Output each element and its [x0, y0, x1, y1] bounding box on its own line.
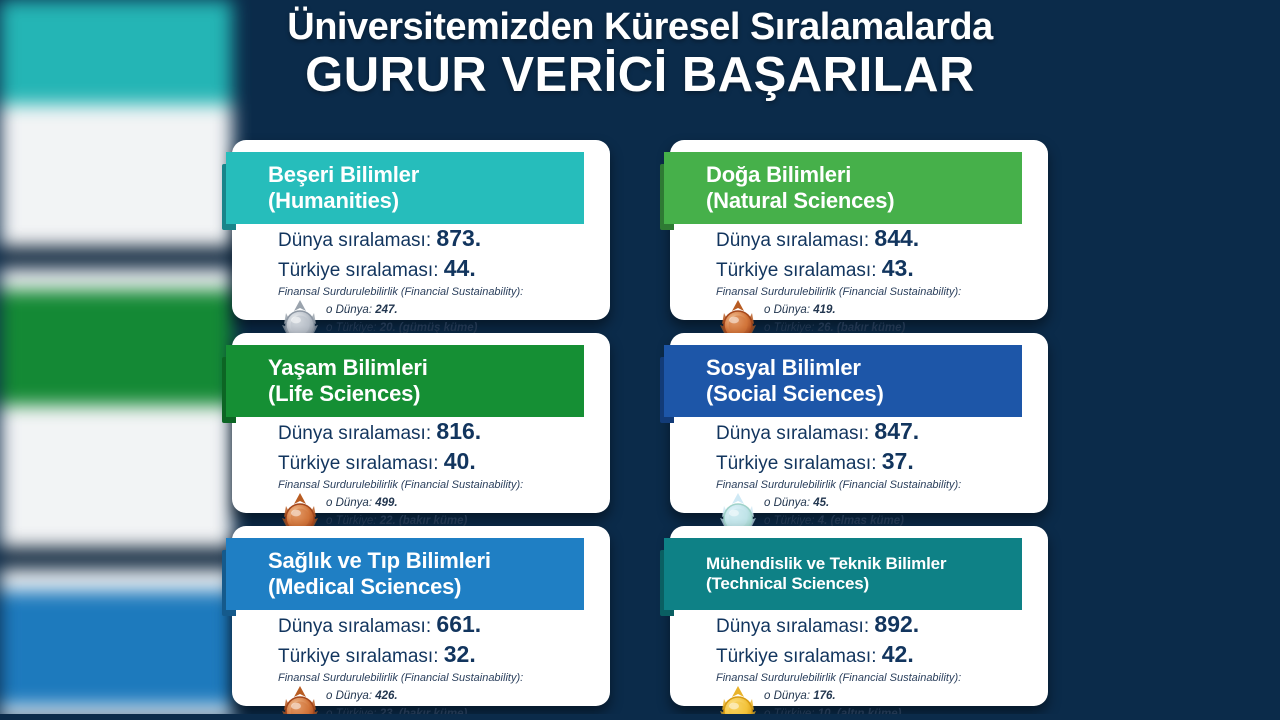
financial-sustainability-label: Finansal Surdurulebilirlik (Financial Su…	[278, 672, 610, 684]
turkey-rank-value: 32.	[444, 641, 476, 667]
financial-world-value: 499.	[375, 497, 397, 509]
card-ribbon-social-sciences: Sosyal Bilimler (Social Sciences)	[660, 345, 1022, 417]
turkey-rank-value: 44.	[444, 255, 476, 281]
card-body-humanities: Dünya sıralaması: 873. Türkiye sıralamas…	[232, 224, 610, 345]
world-rank-row: Dünya sıralaması: 844.	[716, 224, 1048, 254]
turkey-rank-label: Türkiye sıralaması:	[278, 646, 438, 667]
turkey-rank-row: Türkiye sıralaması: 32.	[278, 640, 610, 670]
footer-strip	[0, 714, 1280, 720]
background-blur-left	[0, 0, 232, 720]
financial-sustainability-label: Finansal Surdurulebilirlik (Financial Su…	[716, 672, 1048, 684]
world-rank-value: 661.	[436, 611, 481, 637]
turkey-rank-row: Türkiye sıralaması: 43.	[716, 254, 1048, 284]
world-rank-value: 816.	[436, 418, 481, 444]
card-title-tr: Yaşam Bilimleri	[268, 355, 584, 381]
turkey-rank-label: Türkiye sıralaması:	[716, 453, 876, 474]
financial-world-value: 426.	[375, 690, 397, 702]
card-title-tr: Beşeri Bilimler	[268, 162, 584, 188]
ranking-card-technical-sciences: Mühendislik ve Teknik Bilimler (Technica…	[670, 526, 1048, 706]
card-ribbon-natural-sciences: Doğa Bilimleri (Natural Sciences)	[660, 152, 1022, 224]
ribbon-banner: Beşeri Bilimler (Humanities)	[226, 152, 584, 224]
card-body-natural-sciences: Dünya sıralaması: 844. Türkiye sıralamas…	[670, 224, 1048, 345]
header-subtitle: Üniversitemizden Küresel Sıralamalarda	[0, 6, 1280, 49]
world-rank-row: Dünya sıralaması: 847.	[716, 417, 1048, 447]
world-rank-value: 873.	[436, 225, 481, 251]
world-rank-label: Dünya sıralaması:	[716, 616, 869, 637]
ribbon-banner: Yaşam Bilimleri (Life Sciences)	[226, 345, 584, 417]
financial-world-line: o Dünya: 426.	[326, 687, 610, 706]
turkey-rank-row: Türkiye sıralaması: 37.	[716, 447, 1048, 477]
card-title-tr: Mühendislik ve Teknik Bilimler	[706, 554, 1022, 574]
world-rank-label: Dünya sıralaması:	[278, 423, 431, 444]
ribbon-banner: Sağlık ve Tıp Bilimleri (Medical Science…	[226, 538, 584, 610]
financial-world-line: o Dünya: 499.	[326, 494, 610, 513]
card-title-tr: Sağlık ve Tıp Bilimleri	[268, 548, 584, 574]
world-rank-row: Dünya sıralaması: 661.	[278, 610, 610, 640]
ranking-card-humanities: Beşeri Bilimler (Humanities) Dünya sıral…	[232, 140, 610, 320]
financial-world-line: o Dünya: 176.	[764, 687, 1048, 706]
financial-world-line: o Dünya: 247.	[326, 301, 610, 320]
financial-sustainability-label: Finansal Surdurulebilirlik (Financial Su…	[278, 479, 610, 491]
turkey-rank-value: 40.	[444, 448, 476, 474]
ranking-card-social-sciences: Sosyal Bilimler (Social Sciences) Dünya …	[670, 333, 1048, 513]
card-body-medical-sciences: Dünya sıralaması: 661. Türkiye sıralamas…	[232, 610, 610, 720]
turkey-rank-row: Türkiye sıralaması: 44.	[278, 254, 610, 284]
turkey-rank-row: Türkiye sıralaması: 42.	[716, 640, 1048, 670]
card-title-en: (Life Sciences)	[268, 381, 584, 407]
world-rank-label: Dünya sıralaması:	[716, 423, 869, 444]
world-rank-label: Dünya sıralaması:	[278, 230, 431, 251]
card-title-tr: Sosyal Bilimler	[706, 355, 1022, 381]
financial-world-value: 176.	[813, 690, 835, 702]
turkey-rank-label: Türkiye sıralaması:	[278, 453, 438, 474]
card-ribbon-humanities: Beşeri Bilimler (Humanities)	[222, 152, 584, 224]
ranking-card-natural-sciences: Doğa Bilimleri (Natural Sciences) Dünya …	[670, 140, 1048, 320]
turkey-rank-value: 42.	[882, 641, 914, 667]
financial-world-line: o Dünya: 419.	[764, 301, 1048, 320]
ranking-card-grid: Beşeri Bilimler (Humanities) Dünya sıral…	[232, 140, 1048, 706]
world-rank-label: Dünya sıralaması:	[716, 230, 869, 251]
card-ribbon-technical-sciences: Mühendislik ve Teknik Bilimler (Technica…	[660, 538, 1022, 610]
financial-sustainability-label: Finansal Surdurulebilirlik (Financial Su…	[716, 479, 1048, 491]
financial-sustainability-label: Finansal Surdurulebilirlik (Financial Su…	[716, 286, 1048, 298]
card-title-en: (Natural Sciences)	[706, 188, 1022, 214]
card-body-social-sciences: Dünya sıralaması: 847. Türkiye sıralamas…	[670, 417, 1048, 538]
card-title-en: (Medical Sciences)	[268, 574, 584, 600]
ribbon-banner: Sosyal Bilimler (Social Sciences)	[664, 345, 1022, 417]
world-rank-row: Dünya sıralaması: 892.	[716, 610, 1048, 640]
infographic-stage: Üniversitemizden Küresel Sıralamalarda G…	[0, 0, 1280, 720]
header-title: GURUR VERİCİ BAŞARILAR	[0, 49, 1280, 102]
ranking-card-medical-sciences: Sağlık ve Tıp Bilimleri (Medical Science…	[232, 526, 610, 706]
world-rank-label: Dünya sıralaması:	[278, 616, 431, 637]
card-title-en: (Humanities)	[268, 188, 584, 214]
world-rank-row: Dünya sıralaması: 816.	[278, 417, 610, 447]
turkey-rank-value: 37.	[882, 448, 914, 474]
ribbon-banner: Mühendislik ve Teknik Bilimler (Technica…	[664, 538, 1022, 610]
card-title-en: (Social Sciences)	[706, 381, 1022, 407]
financial-sustainability-label: Finansal Surdurulebilirlik (Financial Su…	[278, 286, 610, 298]
turkey-rank-label: Türkiye sıralaması:	[716, 260, 876, 281]
financial-world-label: o Dünya:	[326, 304, 372, 316]
financial-world-label: o Dünya:	[326, 690, 372, 702]
card-body-technical-sciences: Dünya sıralaması: 892. Türkiye sıralamas…	[670, 610, 1048, 720]
financial-world-label: o Dünya:	[764, 690, 810, 702]
financial-world-label: o Dünya:	[326, 497, 372, 509]
financial-world-label: o Dünya:	[764, 497, 810, 509]
turkey-rank-value: 43.	[882, 255, 914, 281]
card-body-life-sciences: Dünya sıralaması: 816. Türkiye sıralamas…	[232, 417, 610, 538]
turkey-rank-label: Türkiye sıralaması:	[716, 646, 876, 667]
financial-world-value: 45.	[813, 497, 829, 509]
card-ribbon-life-sciences: Yaşam Bilimleri (Life Sciences)	[222, 345, 584, 417]
world-rank-value: 847.	[874, 418, 919, 444]
financial-world-value: 247.	[375, 304, 397, 316]
financial-world-line: o Dünya: 45.	[764, 494, 1048, 513]
world-rank-value: 844.	[874, 225, 919, 251]
card-title-tr: Doğa Bilimleri	[706, 162, 1022, 188]
ribbon-banner: Doğa Bilimleri (Natural Sciences)	[664, 152, 1022, 224]
turkey-rank-label: Türkiye sıralaması:	[278, 260, 438, 281]
background-blur-right	[1048, 0, 1280, 720]
world-rank-row: Dünya sıralaması: 873.	[278, 224, 610, 254]
financial-world-value: 419.	[813, 304, 835, 316]
ranking-card-life-sciences: Yaşam Bilimleri (Life Sciences) Dünya sı…	[232, 333, 610, 513]
turkey-rank-row: Türkiye sıralaması: 40.	[278, 447, 610, 477]
card-ribbon-medical-sciences: Sağlık ve Tıp Bilimleri (Medical Science…	[222, 538, 584, 610]
world-rank-value: 892.	[874, 611, 919, 637]
card-title-en: (Technical Sciences)	[706, 574, 1022, 594]
page-header: Üniversitemizden Küresel Sıralamalarda G…	[0, 6, 1280, 101]
financial-world-label: o Dünya:	[764, 304, 810, 316]
